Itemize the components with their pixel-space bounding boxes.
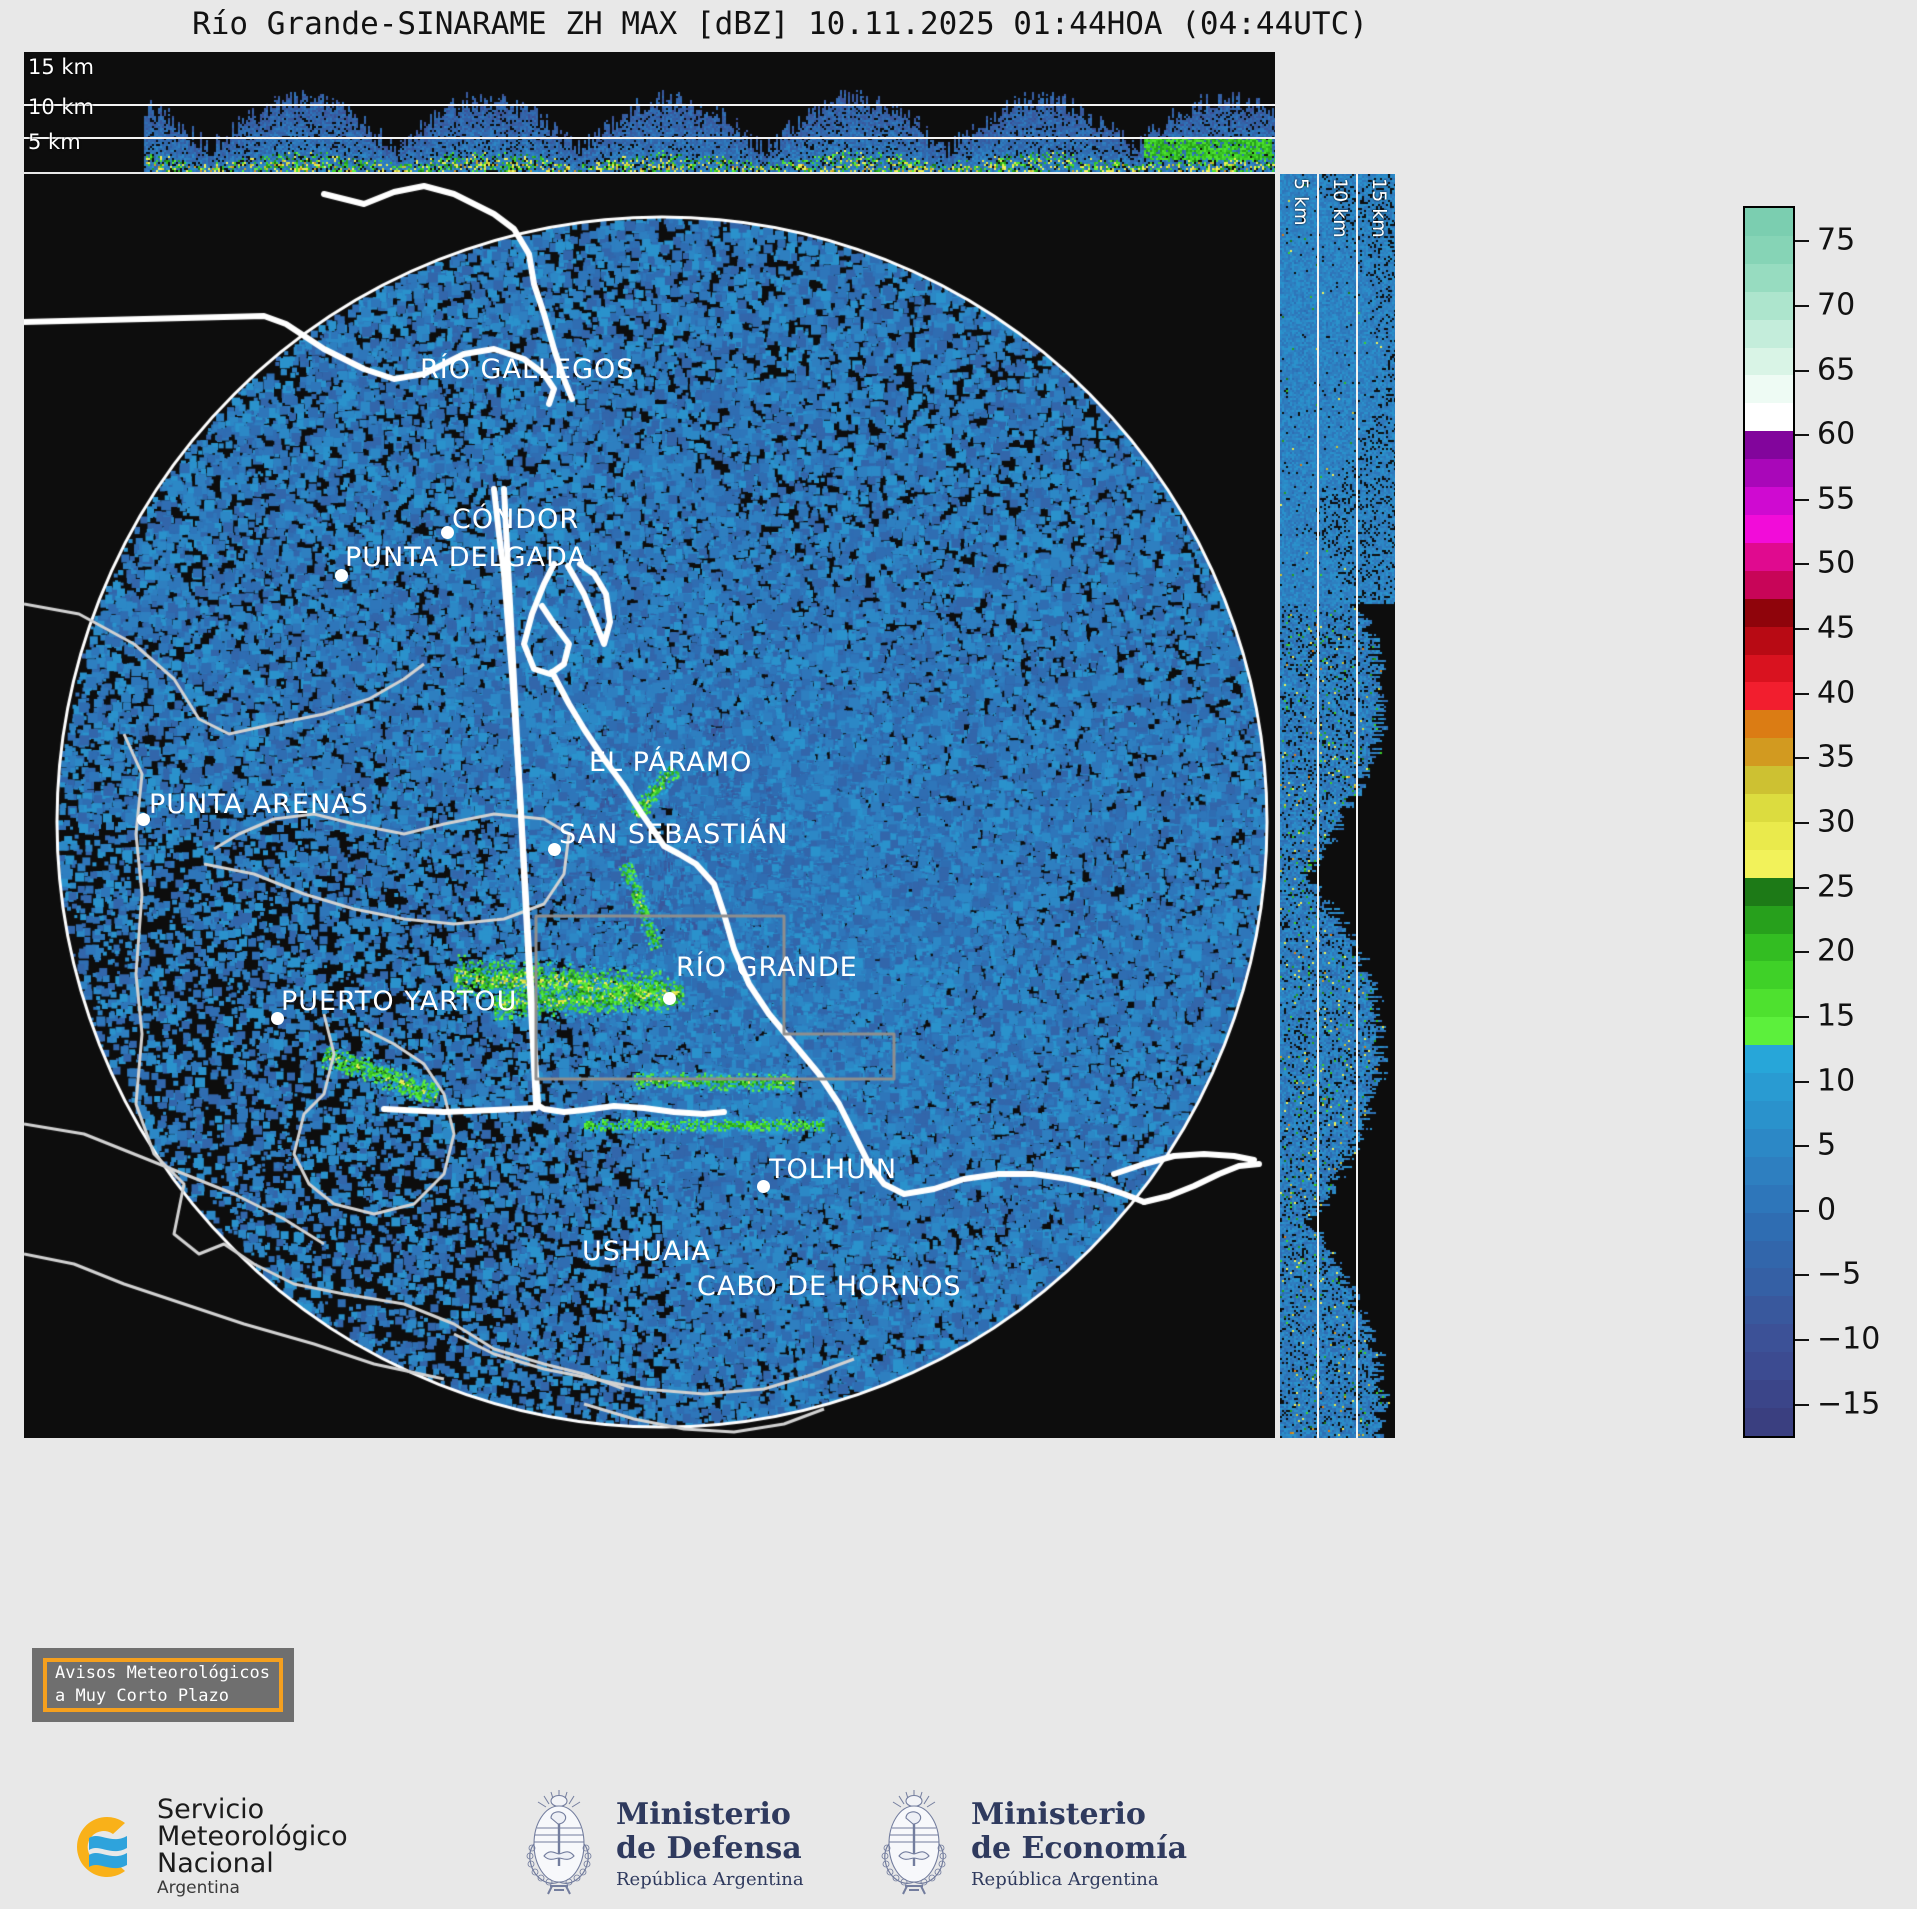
colorbar-tick-label: 70 [1817, 287, 1855, 322]
colorbar-tick [1795, 1145, 1809, 1147]
colorbar-segment [1745, 1101, 1793, 1129]
smn-line-3: Nacional [157, 1850, 348, 1877]
height-label-5km-vertical: 5 km [1290, 178, 1312, 226]
colorbar-tick [1795, 563, 1809, 565]
gridline-10km [24, 104, 1275, 106]
colorbar-segment [1745, 989, 1793, 1017]
colorbar-tick-label: 5 [1817, 1128, 1836, 1163]
colorbar-segment [1745, 375, 1793, 403]
colorbar-tick [1795, 434, 1809, 436]
colorbar-segment [1745, 1241, 1793, 1269]
ministerio-defensa-line-1: Ministerio [616, 1798, 804, 1832]
height-label-10km-vertical: 10 km [1329, 178, 1351, 238]
ministerio-defensa-line-2: de Defensa [616, 1832, 804, 1866]
colorbar-segment [1745, 627, 1793, 655]
colorbar-tick [1795, 305, 1809, 307]
colorbar-tick-label: 15 [1817, 998, 1855, 1033]
colorbar-segment [1745, 487, 1793, 515]
colorbar-segment [1745, 320, 1793, 348]
colorbar-tick-label: 40 [1817, 675, 1855, 710]
ministerio-defensa-line-3: República Argentina [616, 1870, 804, 1890]
colorbar-segment [1745, 1408, 1793, 1436]
colorbar-segment [1745, 1073, 1793, 1101]
city-marker-dot [137, 813, 150, 826]
colorbar-segment [1745, 1324, 1793, 1352]
footer: Servicio Meteorológico Nacional Argentin… [0, 1782, 1917, 1909]
colorbar-tick-label: 10 [1817, 1063, 1855, 1098]
avisos-line-1: Avisos Meteorológicos [55, 1662, 279, 1685]
colorbar-gradient [1743, 206, 1795, 1438]
colorbar-segment [1745, 1017, 1793, 1045]
colorbar-segment [1745, 1213, 1793, 1241]
height-label-15km-vertical: 15 km [1368, 178, 1390, 238]
colorbar-tick [1795, 951, 1809, 953]
height-label-15km: 15 km [28, 55, 94, 79]
city-marker-dot [271, 1012, 284, 1025]
logo-ministerio-defensa[interactable]: Ministerio de Defensa República Argentin… [520, 1788, 804, 1900]
ministerio-economia-line-1: Ministerio [971, 1798, 1187, 1832]
colorbar-segment [1745, 850, 1793, 878]
colorbar-segment [1745, 264, 1793, 292]
avisos-badge[interactable]: Avisos Meteorológicos a Muy Corto Plazo [32, 1648, 294, 1722]
city-marker-dot [663, 992, 676, 1005]
colorbar-segment [1745, 1380, 1793, 1408]
colorbar-segment [1745, 543, 1793, 571]
colorbar-segment [1745, 961, 1793, 989]
colorbar-tick [1795, 1274, 1809, 1276]
colorbar-tick-label: 35 [1817, 740, 1855, 775]
right-cross-section-panel: 5 km 10 km 15 km [1280, 174, 1395, 1438]
colorbar-tick-label: 60 [1817, 417, 1855, 452]
ministerio-defensa-text: Ministerio de Defensa República Argentin… [616, 1798, 804, 1889]
colorbar-tick [1795, 822, 1809, 824]
colorbar-tick [1795, 370, 1809, 372]
top-cross-section-canvas [24, 52, 1275, 172]
colorbar-segment [1745, 766, 1793, 794]
colorbar-segment [1745, 236, 1793, 264]
city-marker-dot [757, 1180, 770, 1193]
colorbar-tick [1795, 887, 1809, 889]
colorbar-tick [1795, 1016, 1809, 1018]
colorbar-segment [1745, 1268, 1793, 1296]
gridline-10km-vertical [1356, 174, 1358, 1438]
colorbar-tick-label: 30 [1817, 805, 1855, 840]
argentina-coat-of-arms-icon [875, 1788, 953, 1900]
colorbar-segment [1745, 571, 1793, 599]
smn-line-1: Servicio [157, 1796, 348, 1823]
colorbar-segment [1745, 515, 1793, 543]
colorbar-tick-label: 20 [1817, 934, 1855, 969]
smn-line-4: Argentina [157, 1880, 348, 1897]
argentina-coat-of-arms-icon [520, 1788, 598, 1900]
colorbar-segment [1745, 599, 1793, 627]
colorbar-tick [1795, 757, 1809, 759]
colorbar-segment [1745, 878, 1793, 906]
colorbar-segment [1745, 710, 1793, 738]
colorbar-segment [1745, 459, 1793, 487]
colorbar-tick [1795, 628, 1809, 630]
colorbar-segment [1745, 794, 1793, 822]
colorbar-tick [1795, 1081, 1809, 1083]
colorbar-segment [1745, 208, 1793, 236]
colorbar-segment [1745, 1352, 1793, 1380]
gridline-5km-vertical [1317, 174, 1319, 1438]
logo-smn[interactable]: Servicio Meteorológico Nacional Argentin… [55, 1796, 348, 1897]
colorbar-ticks: 757065605550454035302520151050−5−10−15 [1795, 206, 1917, 1438]
colorbar-segment [1745, 1296, 1793, 1324]
colorbar-tick-label: 75 [1817, 223, 1855, 258]
radar-reflectivity-canvas [24, 174, 1275, 1438]
colorbar-segment [1745, 1045, 1793, 1073]
colorbar-tick-label: 55 [1817, 481, 1855, 516]
smn-logo-icon [55, 1803, 143, 1891]
colorbar-segment [1745, 348, 1793, 376]
colorbar-segment [1745, 655, 1793, 683]
city-marker-dot [548, 843, 561, 856]
ministerio-economia-line-3: República Argentina [971, 1870, 1187, 1890]
gridline-5km [24, 137, 1275, 139]
colorbar-tick [1795, 1210, 1809, 1212]
colorbar-tick-label: −5 [1817, 1257, 1861, 1292]
colorbar-segment [1745, 403, 1793, 431]
colorbar-tick-label: 0 [1817, 1192, 1836, 1227]
colorbar-tick-label: −10 [1817, 1322, 1880, 1357]
colorbar-segment [1745, 292, 1793, 320]
right-cross-section-canvas [1280, 174, 1395, 1438]
colorbar-tick-label: −15 [1817, 1386, 1880, 1421]
smn-line-2: Meteorológico [157, 1823, 348, 1850]
colorbar-segment [1745, 1185, 1793, 1213]
colorbar-segment [1745, 822, 1793, 850]
colorbar-tick [1795, 240, 1809, 242]
colorbar-segment [1745, 906, 1793, 934]
colorbar-segment [1745, 1157, 1793, 1185]
colorbar-tick [1795, 1404, 1809, 1406]
colorbar-segment [1745, 431, 1793, 459]
avisos-line-2: a Muy Corto Plazo [55, 1685, 279, 1708]
avisos-badge-inner: Avisos Meteorológicos a Muy Corto Plazo [43, 1658, 283, 1712]
colorbar-tick-label: 45 [1817, 611, 1855, 646]
colorbar-segment [1745, 738, 1793, 766]
colorbar-tick [1795, 693, 1809, 695]
page-title: Río Grande-SINARAME ZH MAX [dBZ] 10.11.2… [0, 6, 1560, 42]
colorbar: 757065605550454035302520151050−5−10−15 [1743, 206, 1795, 1438]
height-label-10km: 10 km [28, 95, 94, 119]
colorbar-tick [1795, 499, 1809, 501]
colorbar-segment [1745, 682, 1793, 710]
colorbar-tick-label: 65 [1817, 352, 1855, 387]
colorbar-segment [1745, 934, 1793, 962]
radar-plan-view[interactable]: RÍO GALLEGOSCÓNDORPUNTA DELGADAEL PÁRAMO… [24, 174, 1275, 1438]
colorbar-tick-label: 25 [1817, 869, 1855, 904]
smn-logo-text: Servicio Meteorológico Nacional Argentin… [157, 1796, 348, 1897]
colorbar-tick-label: 50 [1817, 546, 1855, 581]
ministerio-economia-line-2: de Economía [971, 1832, 1187, 1866]
city-marker-dot [335, 569, 348, 582]
top-cross-section-panel: 15 km 10 km 5 km [24, 52, 1275, 172]
city-marker-dot [441, 526, 454, 539]
logo-ministerio-economia[interactable]: Ministerio de Economía República Argenti… [875, 1788, 1187, 1900]
ministerio-economia-text: Ministerio de Economía República Argenti… [971, 1798, 1187, 1889]
height-label-5km: 5 km [28, 130, 81, 154]
colorbar-segment [1745, 1129, 1793, 1157]
colorbar-tick [1795, 1339, 1809, 1341]
